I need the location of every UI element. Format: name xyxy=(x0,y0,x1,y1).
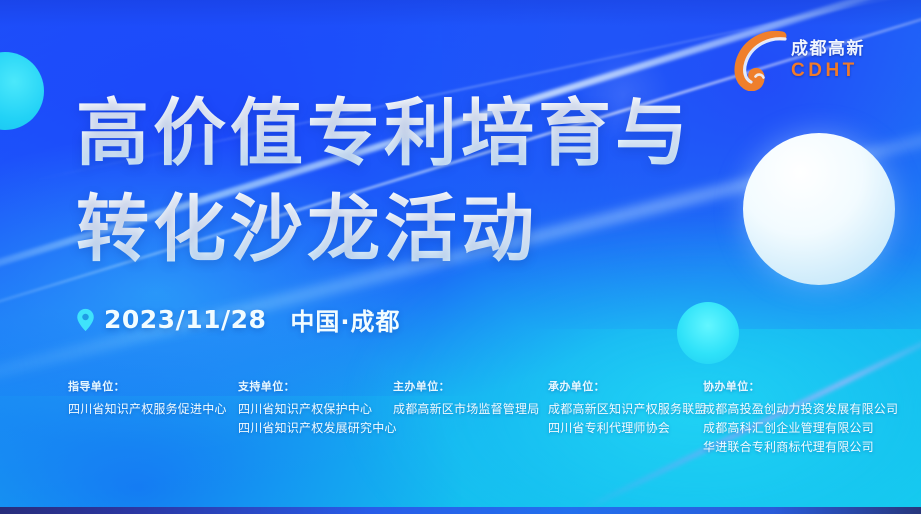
event-poster: 成都高新 CDHT 高价值专利培育与 转化沙龙活动 2023/11/28 中国·… xyxy=(0,0,921,514)
organization-list: 指导单位： 四川省知识产权服务促进中心 支持单位： 四川省知识产权保护中心 四川… xyxy=(68,378,903,457)
org-item: 四川省知识产权保护中心 xyxy=(238,400,393,419)
title-line-2: 转化沙龙活动 xyxy=(76,182,716,278)
cdht-swoosh-icon xyxy=(733,29,789,91)
org-column-coorganizer: 协办单位： 成都高投盈创动力投资发展有限公司 成都高科汇创企业管理有限公司 华进… xyxy=(703,378,898,457)
event-meta: 2023/11/28 中国·成都 xyxy=(76,302,401,337)
org-column-host: 主办单位： 成都高新区市场监督管理局 xyxy=(393,378,548,419)
org-item: 成都高新区市场监督管理局 xyxy=(393,400,548,419)
org-column-guidance: 指导单位： 四川省知识产权服务促进中心 xyxy=(68,378,238,419)
org-item: 成都高投盈创动力投资发展有限公司 xyxy=(703,400,898,419)
poster-title: 高价值专利培育与 转化沙龙活动 xyxy=(76,86,716,278)
bottom-strip xyxy=(0,507,921,514)
org-heading: 承办单位： xyxy=(548,378,703,394)
org-heading: 指导单位： xyxy=(68,378,238,394)
org-heading: 协办单位： xyxy=(703,378,898,394)
top-shade xyxy=(0,0,921,26)
org-item: 四川省知识产权发展研究中心 xyxy=(238,419,393,438)
logo-wordmark: 成都高新 CDHT xyxy=(791,41,865,80)
org-heading: 主办单位： xyxy=(393,378,548,394)
org-item: 成都高新区知识产权服务联盟 xyxy=(548,400,703,419)
org-item: 四川省专利代理师协会 xyxy=(548,419,703,438)
cdht-logo: 成都高新 CDHT xyxy=(733,26,885,94)
org-column-organizer: 承办单位： 成都高新区知识产权服务联盟 四川省专利代理师协会 xyxy=(548,378,703,438)
event-place: 中国·成都 xyxy=(290,302,400,337)
org-item: 成都高科汇创企业管理有限公司 xyxy=(703,419,898,438)
org-item: 四川省知识产权服务促进中心 xyxy=(68,400,238,419)
logo-english-name: CDHT xyxy=(791,61,865,80)
location-pin-icon xyxy=(76,308,95,332)
org-heading: 支持单位： xyxy=(238,378,393,394)
logo-chinese-name: 成都高新 xyxy=(791,41,865,58)
org-item: 华进联合专利商标代理有限公司 xyxy=(703,438,898,457)
title-line-1: 高价值专利培育与 xyxy=(76,86,716,182)
org-column-support: 支持单位： 四川省知识产权保护中心 四川省知识产权发展研究中心 xyxy=(238,378,393,438)
event-date: 2023/11/28 xyxy=(104,305,266,334)
